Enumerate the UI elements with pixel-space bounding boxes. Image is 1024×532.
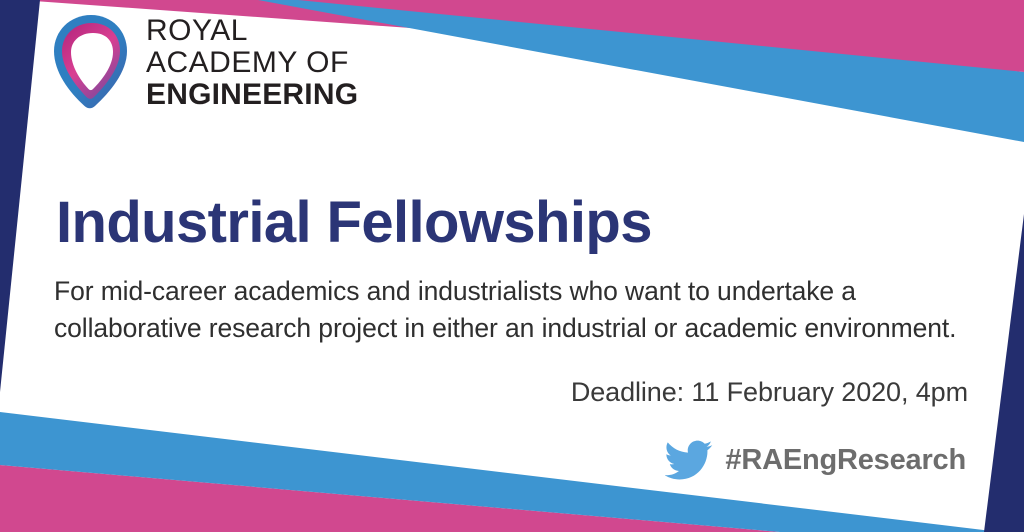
wedge-top-left-navy: [0, 0, 40, 392]
page-title: Industrial Fellowships: [56, 193, 652, 254]
description-text: For mid-career academics and industriali…: [54, 273, 984, 348]
band-top-blue: [258, 0, 1024, 142]
twitter-handle-label: #RAEngResearch: [725, 444, 966, 477]
raeng-teardrop-mark: [52, 14, 130, 112]
raeng-wordmark: ROYAL ACADEMY OF ENGINEERING: [146, 16, 358, 110]
logo-line-academy-of: ACADEMY OF: [146, 48, 358, 78]
raeng-logo: ROYAL ACADEMY OF ENGINEERING: [52, 14, 358, 112]
logo-line-engineering: ENGINEERING: [146, 80, 358, 110]
poster-canvas: ROYAL ACADEMY OF ENGINEERING Industrial …: [0, 0, 1024, 532]
deadline-text: Deadline: 11 February 2020, 4pm: [571, 377, 968, 408]
twitter-bird-icon: [665, 440, 713, 480]
twitter-hashtag-block: #RAEngResearch: [665, 440, 966, 480]
wedge-bottom-right-navy: [984, 214, 1024, 532]
logo-line-royal: ROYAL: [146, 16, 358, 46]
band-bottom-pink: [0, 465, 780, 532]
